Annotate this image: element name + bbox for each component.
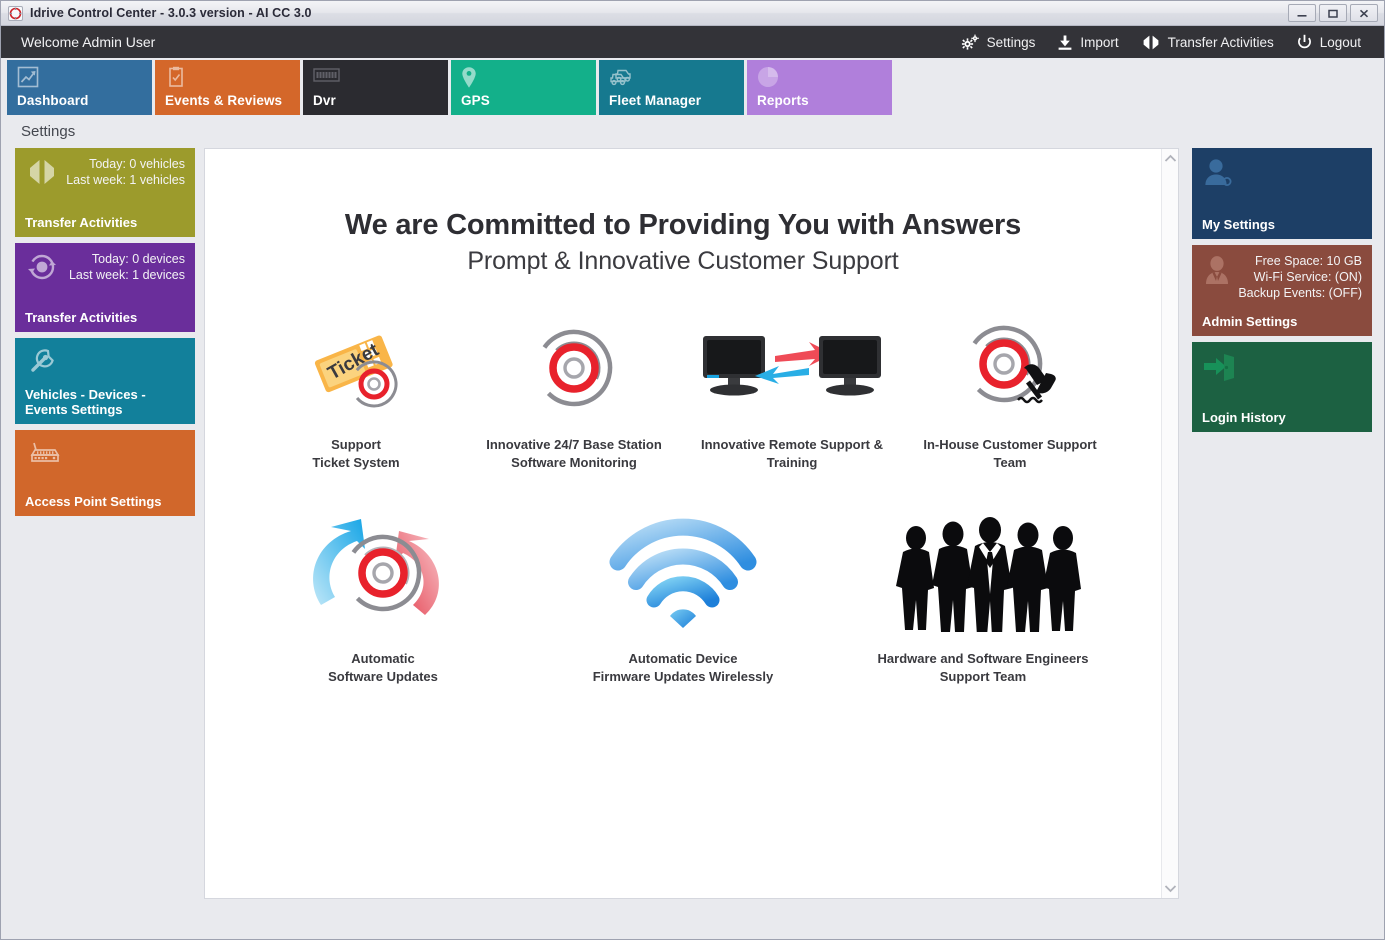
minimize-button[interactable]	[1288, 4, 1316, 22]
admin-user-icon	[1202, 254, 1232, 286]
breadcrumb-label: Settings	[21, 123, 75, 140]
tab-events-reviews[interactable]: Events & Reviews	[155, 60, 300, 115]
tile-vehicles-devices-events-settings[interactable]: Vehicles - Devices - Events Settings	[15, 338, 195, 424]
tile-title: Transfer Activities	[25, 215, 187, 230]
menu-logout[interactable]: Logout	[1285, 30, 1372, 55]
tab-dvr-label: Dvr	[313, 93, 336, 108]
sync-circle-icon	[25, 252, 59, 282]
feature-label: In-House Customer Support Team	[923, 436, 1096, 472]
feature-firmware-updates-wireless: Automatic Device Firmware Updates Wirele…	[533, 514, 833, 686]
menu-import-label: Import	[1080, 35, 1118, 50]
menu-settings-label: Settings	[987, 35, 1036, 50]
router-icon	[25, 439, 65, 469]
primary-nav-tabs: Dashboard Events & Reviews	[1, 58, 1384, 115]
feature-support-ticket-system: Ticket Support Ticket System	[247, 316, 465, 472]
feature-remote-support-training: Innovative Remote Support & Training	[683, 316, 901, 472]
support-ticket-icon: Ticket	[304, 316, 408, 420]
people-group-icon	[883, 514, 1083, 634]
tab-dvr[interactable]: Dvr	[303, 60, 448, 115]
tab-gps[interactable]: GPS	[451, 60, 596, 115]
left-sidebar: Today: 0 vehicles Last week: 1 vehicles …	[15, 148, 195, 899]
target-rings-icon	[527, 316, 621, 420]
feature-base-station-monitoring: Innovative 24/7 Base Station Software Mo…	[465, 316, 683, 472]
menu-import[interactable]: Import	[1046, 30, 1129, 55]
login-door-icon	[1202, 351, 1236, 383]
right-sidebar: My Settings Free Space: 10 GB Wi-Fi Serv…	[1192, 148, 1372, 899]
cars-icon	[609, 66, 744, 86]
window-controls	[1288, 4, 1378, 22]
app-target-icon	[8, 6, 23, 21]
hero-subtitle: Prompt & Innovative Customer Support	[205, 247, 1161, 276]
clipboard-check-icon	[165, 66, 300, 88]
welcome-label: Welcome Admin User	[21, 34, 155, 50]
window-title: Idrive Control Center - 3.0.3 version - …	[30, 6, 312, 20]
menu-logout-label: Logout	[1320, 35, 1361, 50]
tile-title: My Settings	[1202, 217, 1364, 232]
feature-label: Automatic Software Updates	[328, 650, 438, 686]
pie-chart-icon	[757, 66, 892, 88]
wrench-icon	[25, 347, 59, 377]
feature-label: Innovative 24/7 Base Station Software Mo…	[486, 436, 662, 472]
tile-title: Transfer Activities	[25, 310, 187, 325]
content-scrollbar[interactable]	[1161, 149, 1178, 898]
page-body: Today: 0 vehicles Last week: 1 vehicles …	[1, 148, 1384, 921]
main-content-panel: We are Committed to Providing You with A…	[204, 148, 1179, 899]
title-bar: Idrive Control Center - 3.0.3 version - …	[1, 1, 1384, 26]
refresh-target-icon	[291, 514, 476, 634]
user-gear-icon	[1202, 157, 1236, 189]
feature-grid: Ticket Support Ticket System	[205, 316, 1161, 686]
power-icon	[1296, 34, 1313, 51]
feature-label: Support Ticket System	[312, 436, 399, 472]
feature-label: Hardware and Software Engineers Support …	[878, 650, 1089, 686]
feature-in-house-support-team: In-House Customer Support Team	[901, 316, 1119, 472]
chart-line-icon	[17, 66, 152, 88]
two-monitors-icon	[697, 316, 887, 420]
feature-row-1: Ticket Support Ticket System	[205, 316, 1161, 472]
tile-title: Login History	[1202, 410, 1364, 425]
tile-login-history[interactable]: Login History	[1192, 342, 1372, 432]
menu-actions: Settings Import	[949, 30, 1372, 55]
hero-title: We are Committed to Providing You with A…	[205, 209, 1161, 242]
transfer-arrows-icon	[25, 157, 59, 187]
tile-admin-settings[interactable]: Free Space: 10 GB Wi-Fi Service: (ON) Ba…	[1192, 245, 1372, 336]
tile-access-point-settings[interactable]: Access Point Settings	[15, 430, 195, 516]
feature-label: Automatic Device Firmware Updates Wirele…	[593, 650, 774, 686]
top-menu-bar: Welcome Admin User	[1, 26, 1384, 58]
feature-hardware-software-engineers: Hardware and Software Engineers Support …	[833, 514, 1133, 686]
feature-automatic-software-updates: Automatic Software Updates	[233, 514, 533, 686]
maximize-button[interactable]	[1319, 4, 1347, 22]
tab-events-reviews-label: Events & Reviews	[165, 93, 282, 108]
menu-settings[interactable]: Settings	[949, 30, 1047, 55]
tile-title: Admin Settings	[1202, 314, 1364, 329]
tile-my-settings[interactable]: My Settings	[1192, 148, 1372, 239]
download-icon	[1057, 34, 1073, 51]
transfer-icon	[1141, 34, 1161, 51]
feature-row-2: Automatic Software Updates	[205, 514, 1161, 686]
wifi-waves-icon	[608, 514, 758, 634]
tab-reports[interactable]: Reports	[747, 60, 892, 115]
scroll-down-icon[interactable]	[1164, 884, 1177, 893]
target-phone-icon	[958, 316, 1062, 420]
tab-fleet-manager[interactable]: Fleet Manager	[599, 60, 744, 115]
scroll-up-icon[interactable]	[1164, 154, 1177, 163]
tab-gps-label: GPS	[461, 93, 490, 108]
breadcrumb: Settings	[1, 115, 1384, 148]
menu-transfer-activities[interactable]: Transfer Activities	[1130, 30, 1285, 55]
feature-label: Innovative Remote Support & Training	[701, 436, 883, 472]
tile-transfer-activities-vehicles[interactable]: Today: 0 vehicles Last week: 1 vehicles …	[15, 148, 195, 237]
tab-fleet-manager-label: Fleet Manager	[609, 93, 701, 108]
tab-reports-label: Reports	[757, 93, 809, 108]
gear-icon	[960, 34, 980, 51]
content-scroll-area: We are Committed to Providing You with A…	[205, 149, 1161, 898]
application-window: Idrive Control Center - 3.0.3 version - …	[0, 0, 1385, 940]
tile-title: Vehicles - Devices - Events Settings	[25, 387, 187, 417]
bottom-status-bar	[1, 921, 1384, 939]
menu-transfer-label: Transfer Activities	[1168, 35, 1274, 50]
tab-dashboard-label: Dashboard	[17, 93, 88, 108]
map-pin-icon	[461, 66, 596, 89]
tile-transfer-activities-devices[interactable]: Today: 0 devices Last week: 1 devices Tr…	[15, 243, 195, 332]
close-button[interactable]	[1350, 4, 1378, 22]
tile-title: Access Point Settings	[25, 494, 187, 509]
dvr-icon	[313, 66, 448, 84]
tab-dashboard[interactable]: Dashboard	[7, 60, 152, 115]
